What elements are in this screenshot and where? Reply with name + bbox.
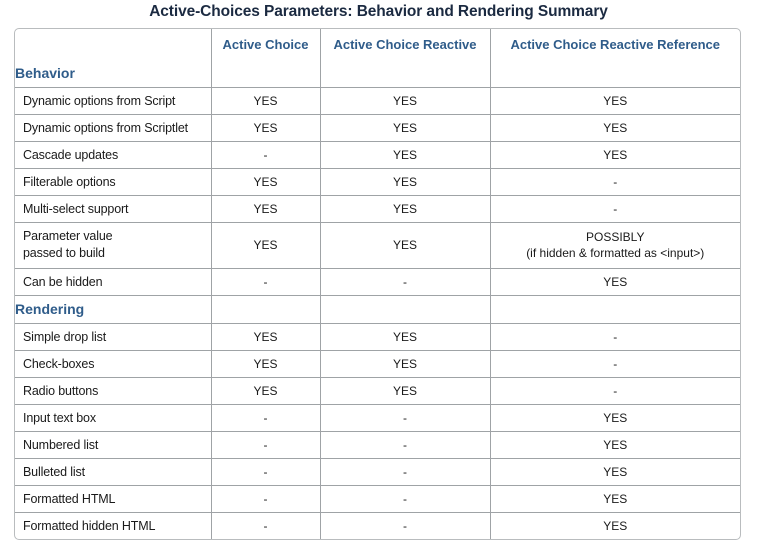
cell-active-choice-reactive-reference: - [490,377,740,404]
table-row: Simple drop listYESYES- [15,323,740,350]
section-row-empty-cell [211,295,320,323]
cell-active-choice-reactive-reference: YES [490,268,740,295]
section-row: Behavior [15,59,740,87]
section-title-behavior: Behavior [15,59,211,87]
cell-active-choice-reactive-reference: YES [490,141,740,168]
cell-active-choice-reactive: YES [320,323,490,350]
cell-active-choice-reactive: - [320,485,490,512]
table-row: Cascade updates-YESYES [15,141,740,168]
section-row-empty-cell [490,295,740,323]
row-label: Filterable options [15,168,211,195]
row-label: Can be hidden [15,268,211,295]
cell-active-choice: - [211,141,320,168]
table-row: Bulleted list--YES [15,458,740,485]
cell-active-choice-reactive: - [320,404,490,431]
cell-active-choice: - [211,268,320,295]
table-row: Parameter valuepassed to buildYESYESPOSS… [15,222,740,268]
table-row: Multi-select supportYESYES- [15,195,740,222]
table-row: Can be hidden--YES [15,268,740,295]
row-label: Bulleted list [15,458,211,485]
table-row: Filterable optionsYESYES- [15,168,740,195]
section-row-empty-cell [490,59,740,87]
cell-active-choice-reactive: - [320,512,490,539]
cell-active-choice: - [211,512,320,539]
row-label-line-1: Parameter value [23,228,211,245]
table-row: Radio buttonsYESYES- [15,377,740,404]
cell-active-choice-reactive: YES [320,141,490,168]
section-title-rendering: Rendering [15,295,211,323]
row-label-line-2: passed to build [23,245,211,262]
table-header: Active Choice Active Choice Reactive Act… [15,29,740,59]
table-row: Numbered list--YES [15,431,740,458]
page-root: Active-Choices Parameters: Behavior and … [0,0,757,522]
cell-active-choice-reactive-reference: YES [490,87,740,114]
column-header-feature [15,29,211,59]
row-label: Multi-select support [15,195,211,222]
row-label: Dynamic options from Scriptlet [15,114,211,141]
section-row-empty-cell [320,295,490,323]
cell-active-choice-reactive: - [320,431,490,458]
cell-value-line-2: (if hidden & formatted as <input>) [491,245,741,261]
section-row-empty-cell [320,59,490,87]
cell-active-choice-reactive: YES [320,168,490,195]
cell-active-choice-reactive-reference: - [490,195,740,222]
row-label: Cascade updates [15,141,211,168]
row-label: Dynamic options from Script [15,87,211,114]
cell-active-choice-reactive-reference: YES [490,458,740,485]
table-row: Formatted HTML--YES [15,485,740,512]
cell-active-choice-reactive: YES [320,195,490,222]
table-row: Formatted hidden HTML--YES [15,512,740,539]
cell-active-choice: - [211,431,320,458]
cell-active-choice-reactive-reference: - [490,350,740,377]
cell-active-choice-reactive: - [320,268,490,295]
cell-active-choice: YES [211,323,320,350]
cell-active-choice: YES [211,114,320,141]
cell-active-choice-reactive: YES [320,377,490,404]
cell-active-choice: YES [211,350,320,377]
row-label: Radio buttons [15,377,211,404]
section-row-empty-cell [211,59,320,87]
row-label: Check-boxes [15,350,211,377]
cell-active-choice-reactive-reference: POSSIBLY(if hidden & formatted as <input… [490,222,740,268]
row-label: Numbered list [15,431,211,458]
cell-active-choice: - [211,485,320,512]
cell-active-choice-reactive-reference: YES [490,485,740,512]
table-row: Dynamic options from ScriptYESYESYES [15,87,740,114]
column-header-active-choice: Active Choice [211,29,320,59]
cell-active-choice-reactive-reference: YES [490,431,740,458]
row-label: Formatted HTML [15,485,211,512]
row-label: Parameter valuepassed to build [15,222,211,268]
cell-active-choice: YES [211,168,320,195]
column-header-active-choice-reactive: Active Choice Reactive [320,29,490,59]
cell-active-choice: - [211,404,320,431]
cell-active-choice-reactive: YES [320,222,490,268]
page-title: Active-Choices Parameters: Behavior and … [0,3,757,21]
cell-active-choice-reactive-reference: - [490,168,740,195]
cell-active-choice-reactive-reference: YES [490,512,740,539]
header-row: Active Choice Active Choice Reactive Act… [15,29,740,59]
cell-active-choice-reactive: YES [320,87,490,114]
table-row: Check-boxesYESYES- [15,350,740,377]
summary-table-container: Active Choice Active Choice Reactive Act… [14,28,741,540]
cell-active-choice: YES [211,195,320,222]
cell-active-choice: - [211,458,320,485]
table-row: Input text box--YES [15,404,740,431]
cell-active-choice: YES [211,87,320,114]
table-body: BehaviorDynamic options from ScriptYESYE… [15,59,740,539]
cell-active-choice-reactive: YES [320,350,490,377]
table-row: Dynamic options from ScriptletYESYESYES [15,114,740,141]
cell-active-choice-reactive: - [320,458,490,485]
cell-active-choice: YES [211,377,320,404]
section-row: Rendering [15,295,740,323]
cell-active-choice-reactive-reference: - [490,323,740,350]
cell-active-choice-reactive: YES [320,114,490,141]
cell-active-choice-reactive-reference: YES [490,114,740,141]
row-label: Simple drop list [15,323,211,350]
row-label: Formatted hidden HTML [15,512,211,539]
cell-active-choice: YES [211,222,320,268]
row-label: Input text box [15,404,211,431]
cell-active-choice-reactive-reference: YES [490,404,740,431]
summary-table: Active Choice Active Choice Reactive Act… [15,29,740,539]
cell-value-line-1: POSSIBLY [491,229,741,245]
column-header-active-choice-reactive-reference: Active Choice Reactive Reference [490,29,740,59]
